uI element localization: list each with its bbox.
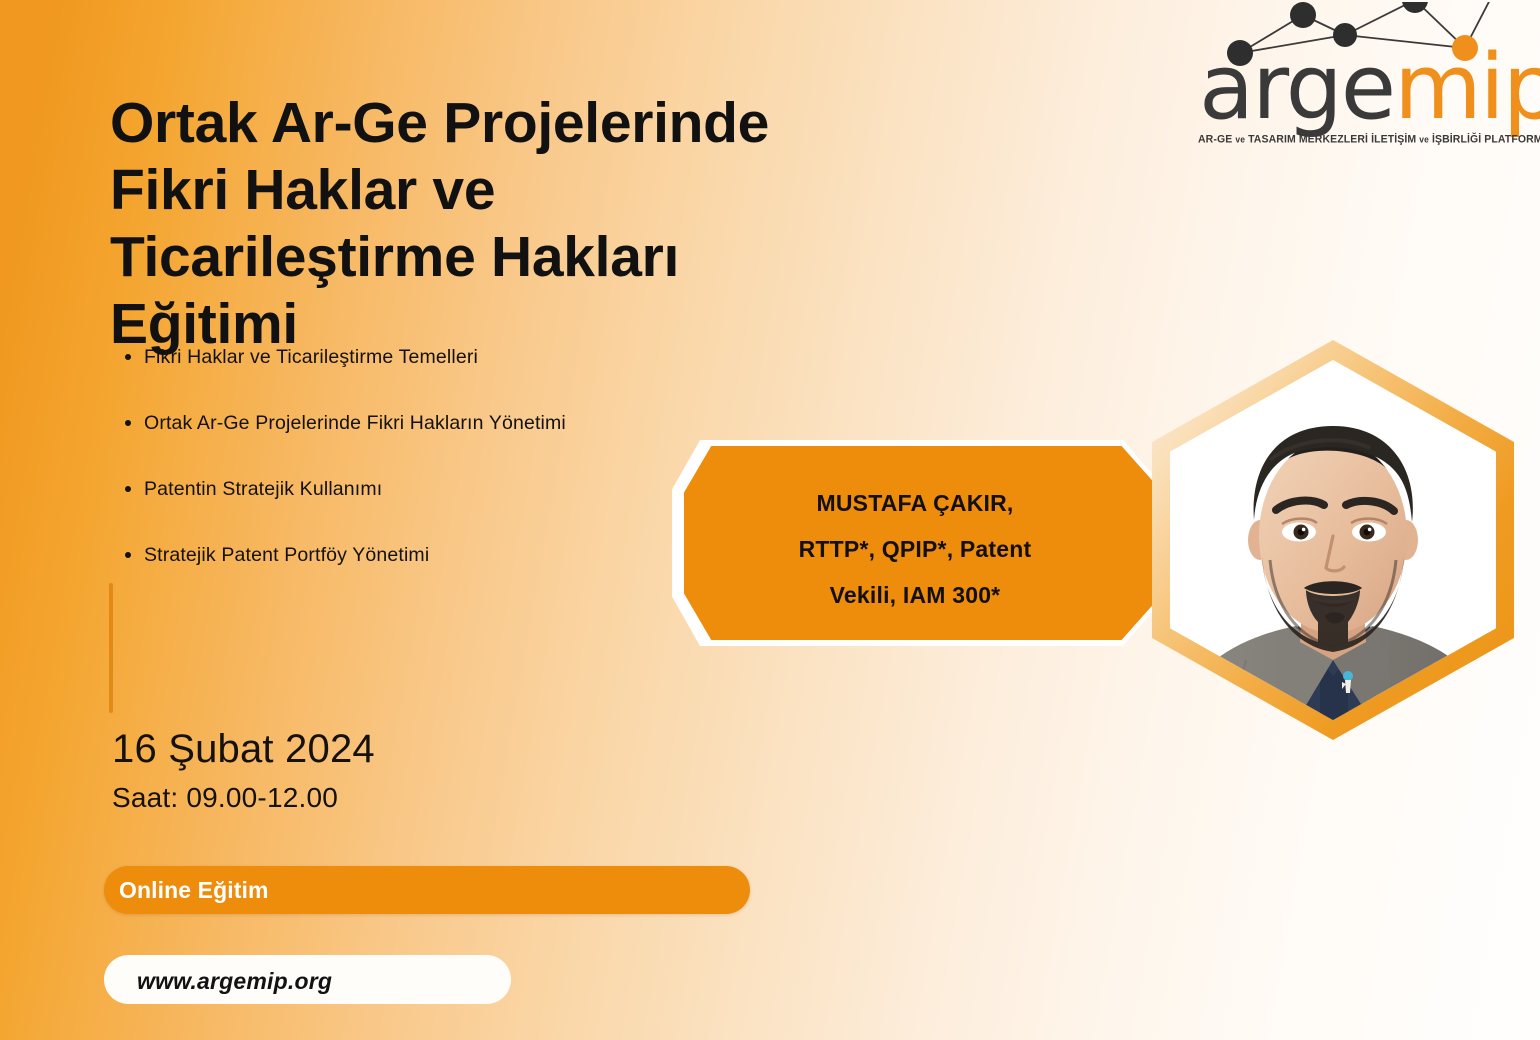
online-format-badge: Online Eğitim	[104, 866, 750, 914]
event-time: Saat: 09.00-12.00	[112, 782, 338, 814]
event-poster: argemip AR-GE ve TASARIM MERKEZLERİ İLET…	[0, 0, 1540, 1040]
logo-tagline-ve-2: ve	[1419, 134, 1429, 145]
logo-tagline-mid: TASARIM MERKEZLERİ İLETİŞİM	[1248, 133, 1416, 146]
list-item: Stratejik Patent Portföy Yönetimi	[118, 543, 758, 567]
accent-divider	[109, 583, 113, 713]
logo-tagline-post: İŞBİRLİĞİ PLATFORMU	[1432, 133, 1540, 146]
online-format-label: Online Eğitim	[119, 877, 269, 904]
speaker-credentials-line: Vekili, IAM 300*	[730, 572, 1100, 618]
title-line: Ticarileştirme Hakları	[110, 224, 1070, 291]
logo-tagline: AR-GE ve TASARIM MERKEZLERİ İLETİŞİM ve …	[1198, 133, 1498, 146]
page-title: Ortak Ar-Ge Projelerinde Fikri Haklar ve…	[110, 90, 1070, 358]
logo-word-arge: arge	[1199, 35, 1394, 140]
list-item: Patentin Stratejik Kullanımı	[118, 477, 758, 501]
title-line: Fikri Haklar ve	[110, 157, 1070, 224]
website-url-label: www.argemip.org	[137, 968, 332, 995]
topic-list: Fikri Haklar ve Ticarileştirme Temelleri…	[118, 345, 758, 609]
title-line: Ortak Ar-Ge Projelerinde	[110, 90, 1070, 157]
event-date: 16 Şubat 2024	[112, 727, 375, 772]
speaker-photo-hexagon	[1152, 340, 1514, 740]
logo-tagline-ve-1: ve	[1235, 134, 1245, 145]
logo-word-mip: mip	[1394, 35, 1540, 140]
website-badge[interactable]: www.argemip.org	[104, 955, 511, 1004]
speaker-credentials-line: RTTP*, QPIP*, Patent	[730, 526, 1100, 572]
speaker-badge-text: MUSTAFA ÇAKIR, RTTP*, QPIP*, Patent Veki…	[730, 480, 1100, 618]
logo-wordmark: argemip	[1199, 42, 1533, 134]
list-item: Ortak Ar-Ge Projelerinde Fikri Hakların …	[118, 411, 758, 435]
speaker-name: MUSTAFA ÇAKIR,	[730, 480, 1100, 526]
speaker-badge: MUSTAFA ÇAKIR, RTTP*, QPIP*, Patent Veki…	[672, 440, 1212, 646]
argemip-logo[interactable]: argemip AR-GE ve TASARIM MERKEZLERİ İLET…	[1193, 2, 1533, 160]
logo-tagline-pre: AR-GE	[1198, 133, 1232, 146]
list-item: Fikri Haklar ve Ticarileştirme Temelleri	[118, 345, 758, 369]
